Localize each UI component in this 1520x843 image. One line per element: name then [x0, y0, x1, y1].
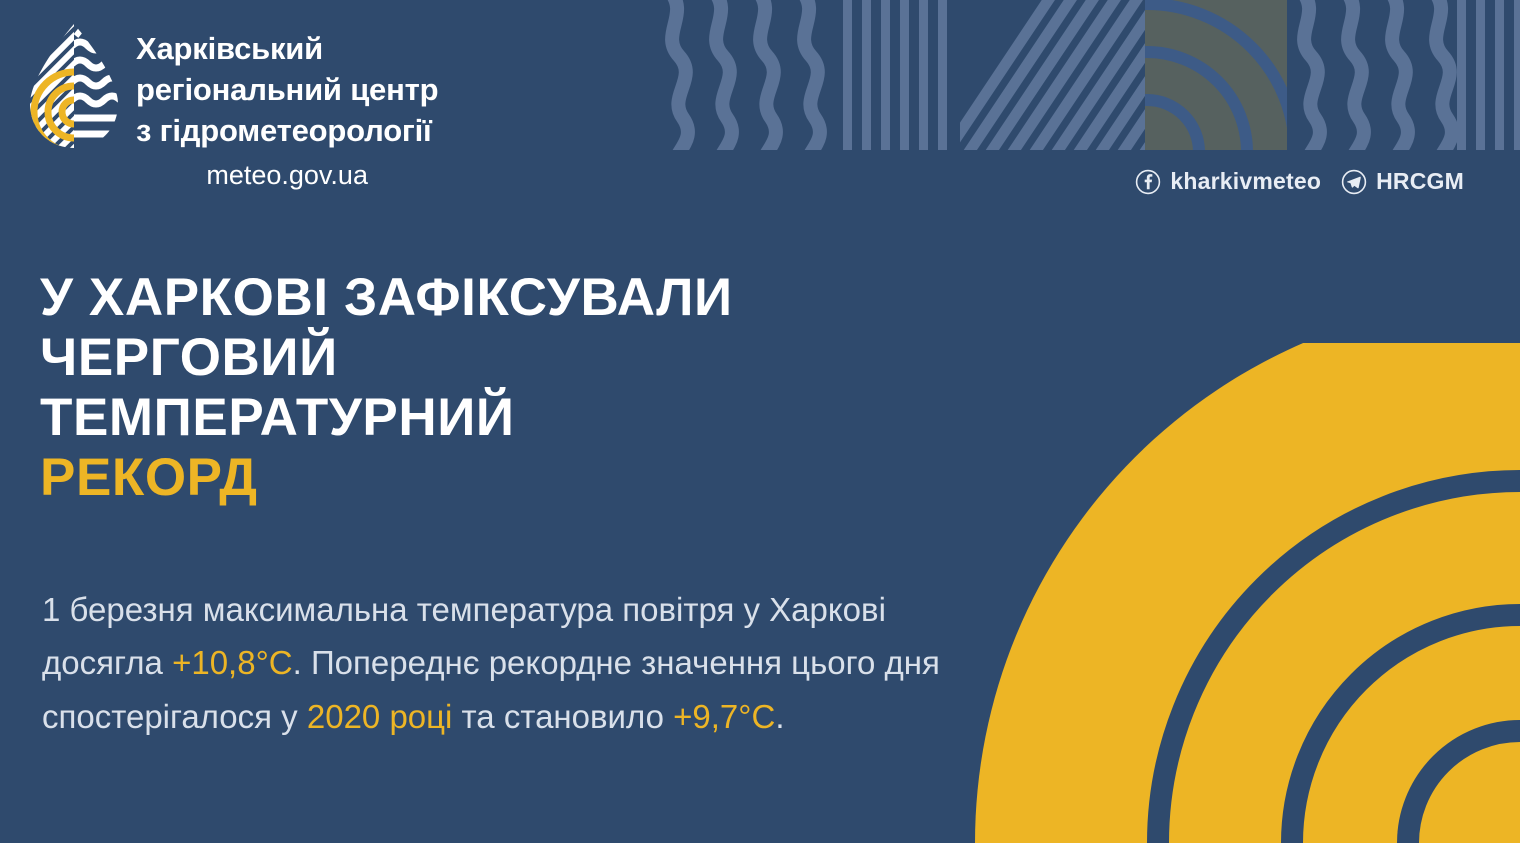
logo-text: Харківський регіональний центр з гідроме…: [136, 22, 438, 193]
logo-line-1: Харківський: [136, 28, 438, 69]
organization-logo: Харківський регіональний центр з гідроме…: [26, 22, 438, 193]
social-label-telegram: HRCGM: [1376, 168, 1464, 195]
logo-line-3: з гідрометеорології: [136, 110, 438, 151]
logo-website[interactable]: meteo.gov.ua: [136, 158, 438, 193]
water-droplet-logo-icon: [26, 22, 122, 150]
headline-line-3: ТЕМПЕРАТУРНИЙ: [40, 388, 733, 448]
headline-line-4-record: РЕКОРД: [40, 448, 733, 508]
telegram-icon: [1341, 169, 1367, 195]
body-part-4: .: [775, 698, 784, 735]
logo-line-2: регіональний центр: [136, 69, 438, 110]
body-part-3: та становило: [452, 698, 673, 735]
social-link-telegram[interactable]: HRCGM: [1341, 168, 1464, 195]
headline-line-2: ЧЕРГОВИЙ: [40, 328, 733, 388]
decorative-pattern-band: [655, 0, 1520, 150]
social-links: kharkivmeteo HRCGM: [1135, 168, 1464, 195]
temperature-new-value: +10,8°C: [172, 644, 293, 681]
temperature-old-value: +9,7°C: [673, 698, 775, 735]
corner-circles-graphic: [960, 343, 1520, 843]
poster-canvas: Харківський регіональний центр з гідроме…: [0, 0, 1520, 843]
social-label-facebook: kharkivmeteo: [1170, 168, 1321, 195]
body-paragraph: 1 березня максимальна температура повітр…: [42, 583, 1002, 743]
social-link-facebook[interactable]: kharkivmeteo: [1135, 168, 1321, 195]
previous-record-year: 2020 році: [307, 698, 453, 735]
headline: У ХАРКОВІ ЗАФІКСУВАЛИ ЧЕРГОВИЙ ТЕМПЕРАТУ…: [40, 268, 733, 509]
facebook-icon: [1135, 169, 1161, 195]
headline-line-1: У ХАРКОВІ ЗАФІКСУВАЛИ: [40, 268, 733, 328]
